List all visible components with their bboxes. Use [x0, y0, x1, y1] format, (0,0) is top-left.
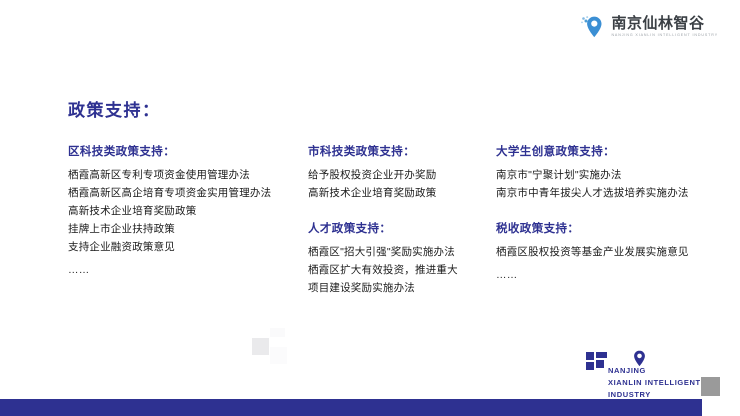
squares-mark-icon	[586, 352, 610, 372]
policy-column-3: 大学生创意政策支持： 南京市"宁聚计划"实施办法 南京市中青年拔尖人才选拔培养实…	[496, 143, 718, 284]
policy-item: 栖霞区扩大有效投资，推进重大	[308, 261, 496, 279]
policy-item: 项目建设奖励实施办法	[308, 279, 496, 297]
policy-group-heading: 人才政策支持：	[308, 220, 496, 236]
decorative-square	[270, 347, 287, 364]
footer-logo-line-2: XIANLIN INTELLIGENT	[608, 378, 701, 387]
policy-item: 南京市"宁聚计划"实施办法	[496, 166, 718, 184]
decorative-square	[270, 328, 285, 337]
policy-item: 栖霞高新区专利专项资金使用管理办法	[68, 166, 308, 184]
policy-item: 挂牌上市企业扶持政策	[68, 220, 308, 238]
policy-group-heading: 区科技类政策支持：	[68, 143, 308, 159]
decorative-square	[252, 338, 269, 355]
policy-item: 栖霞区股权投资等基金产业发展实施意见	[496, 243, 718, 261]
policy-item: 高新技术企业培育奖励政策	[68, 202, 308, 220]
header-logo-english: NANJING XIANLIN INTELLIGENT INDUSTRY	[611, 34, 718, 38]
policy-group: 人才政策支持： 栖霞区"招大引强"奖励实施办法 栖霞区扩大有效投资，推进重大 项…	[308, 220, 496, 297]
policy-columns: 区科技类政策支持： 栖霞高新区专利专项资金使用管理办法 栖霞高新区高企培育专项资…	[68, 143, 718, 297]
footer-logo: NANJING XIANLIN INTELLIGENT INDUSTRY	[586, 352, 696, 394]
policy-group-heading: 市科技类政策支持：	[308, 143, 496, 159]
policy-group: 税收政策支持： 栖霞区股权投资等基金产业发展实施意见 ……	[496, 220, 718, 284]
footer-logo-line-1: NANJING	[608, 366, 646, 375]
policy-group: 市科技类政策支持： 给予股权投资企业开办奖励 高新技术企业培育奖励政策	[308, 143, 496, 202]
bottom-accent-bar	[0, 399, 702, 416]
location-pin-icon	[579, 14, 605, 40]
footer-logo-line-3: INDUSTRY	[608, 390, 651, 399]
policy-group-heading: 税收政策支持：	[496, 220, 718, 236]
policy-item: 高新技术企业培育奖励政策	[308, 184, 496, 202]
policy-item: 给予股权投资企业开办奖励	[308, 166, 496, 184]
policy-group: 区科技类政策支持： 栖霞高新区专利专项资金使用管理办法 栖霞高新区高企培育专项资…	[68, 143, 308, 279]
policy-column-2: 市科技类政策支持： 给予股权投资企业开办奖励 高新技术企业培育奖励政策 人才政策…	[308, 143, 496, 297]
policy-column-1: 区科技类政策支持： 栖霞高新区专利专项资金使用管理办法 栖霞高新区高企培育专项资…	[68, 143, 308, 279]
slide-root: 南京仙林智谷 NANJING XIANLIN INTELLIGENT INDUS…	[0, 0, 740, 416]
header-logo-text: 南京仙林智谷 NANJING XIANLIN INTELLIGENT INDUS…	[611, 16, 718, 37]
policy-item: 栖霞区"招大引强"奖励实施办法	[308, 243, 496, 261]
policy-group-heading: 大学生创意政策支持：	[496, 143, 718, 159]
policy-item: 南京市中青年拔尖人才选拔培养实施办法	[496, 184, 718, 202]
policy-item: 栖霞高新区高企培育专项资金实用管理办法	[68, 184, 308, 202]
gray-accent-square	[701, 377, 720, 396]
policy-ellipsis: ……	[496, 266, 718, 284]
footer-logo-text: NANJING XIANLIN INTELLIGENT INDUSTRY	[608, 364, 701, 400]
policy-item: 支持企业融资政策意见	[68, 238, 308, 256]
header-logo-chinese: 南京仙林智谷	[611, 16, 718, 31]
decorative-squares	[252, 328, 308, 368]
header-logo: 南京仙林智谷 NANJING XIANLIN INTELLIGENT INDUS…	[579, 14, 718, 40]
policy-ellipsis: ……	[68, 261, 308, 279]
page-title: 政策支持：	[68, 96, 161, 121]
policy-group: 大学生创意政策支持： 南京市"宁聚计划"实施办法 南京市中青年拔尖人才选拔培养实…	[496, 143, 718, 202]
